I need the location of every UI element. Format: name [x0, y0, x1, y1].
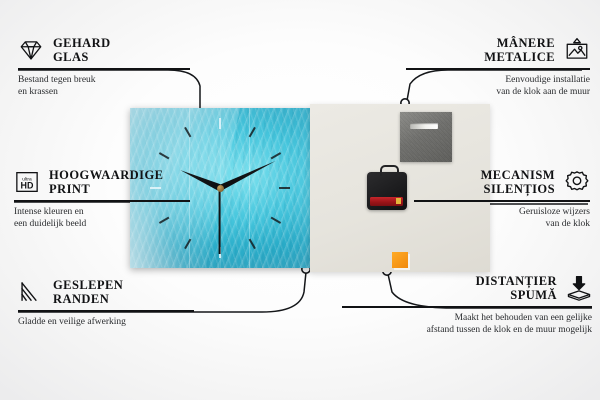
- feature-title: DISTANȚIER SPUMĂ: [476, 274, 557, 302]
- feature-subtitle: Geruisloze wijzers van de klok: [414, 206, 590, 230]
- ultra-hd-icon: ultra HD: [14, 169, 40, 195]
- feature-gehard-glas: GEHARD GLAS Bestand tegen breuk en krass…: [18, 36, 190, 98]
- battery: [370, 197, 403, 206]
- feature-header: GESLEPEN RANDEN: [18, 278, 194, 306]
- feature-divider: [14, 200, 190, 202]
- feature-header: DISTANȚIER SPUMĂ: [342, 274, 592, 302]
- feature-subtitle: Bestand tegen breuk en krassen: [18, 74, 190, 98]
- feature-title: MÂNERE METALICE: [484, 36, 555, 64]
- diamond-icon: [18, 37, 44, 63]
- feature-subtitle: Gladde en veilige afwerking: [18, 316, 194, 328]
- mechanism-hook: [380, 165, 399, 176]
- feature-mecanism-silentios: MECANISM SILENȚIOS Geruisloze wijzers va…: [414, 168, 590, 230]
- foam-spacer: [392, 252, 408, 268]
- feature-divider: [342, 306, 592, 308]
- feature-title: GEHARD GLAS: [53, 36, 111, 64]
- ultra-hd-icon-large-text: HD: [21, 181, 34, 191]
- metal-hanger-plate: [400, 112, 452, 162]
- feature-title: HOOGWAARDIGE PRINT: [49, 168, 163, 196]
- clock-tick: [220, 187, 290, 189]
- feature-subtitle: Intense kleuren en een duidelijk beeld: [14, 206, 190, 230]
- feature-subtitle: Maakt het behouden van een gelijke afsta…: [342, 312, 592, 336]
- feature-header: GEHARD GLAS: [18, 36, 190, 64]
- feature-geslepen-randen: GESLEPEN RANDEN Gladde en veilige afwerk…: [18, 278, 194, 328]
- beveled-edges-icon: [18, 279, 44, 305]
- battery-terminal: [396, 198, 401, 204]
- feature-header: MECANISM SILENȚIOS: [414, 168, 590, 196]
- clock-hand-cap: [217, 185, 224, 192]
- feature-divider: [406, 68, 590, 70]
- gear-icon: [564, 169, 590, 195]
- infographic-canvas: GEHARD GLAS Bestand tegen breuk en krass…: [0, 0, 600, 400]
- feature-manere-metalice: MÂNERE METALICE Eenvoudige installatie v…: [406, 36, 590, 98]
- feature-hoogwaardige-print: ultra HD HOOGWAARDIGE PRINT Intense kleu…: [14, 168, 190, 230]
- feature-subtitle: Eenvoudige installatie van de klok aan d…: [406, 74, 590, 98]
- picture-frame-icon: [564, 37, 590, 63]
- feature-distantier-spuma: DISTANȚIER SPUMĂ Maakt het behouden van …: [342, 274, 592, 336]
- spacer-press-icon: [566, 275, 592, 301]
- feature-title: MECANISM SILENȚIOS: [481, 168, 555, 196]
- feature-title: GESLEPEN RANDEN: [53, 278, 123, 306]
- feature-header: MÂNERE METALICE: [406, 36, 590, 64]
- feature-header: ultra HD HOOGWAARDIGE PRINT: [14, 168, 190, 196]
- clock-second-hand: [219, 188, 221, 254]
- feature-divider: [18, 310, 194, 312]
- clock-mechanism-box: [367, 172, 407, 210]
- hanger-slot: [410, 123, 438, 129]
- feature-divider: [18, 68, 190, 70]
- clock-tick: [219, 118, 221, 188]
- feature-divider: [414, 200, 590, 202]
